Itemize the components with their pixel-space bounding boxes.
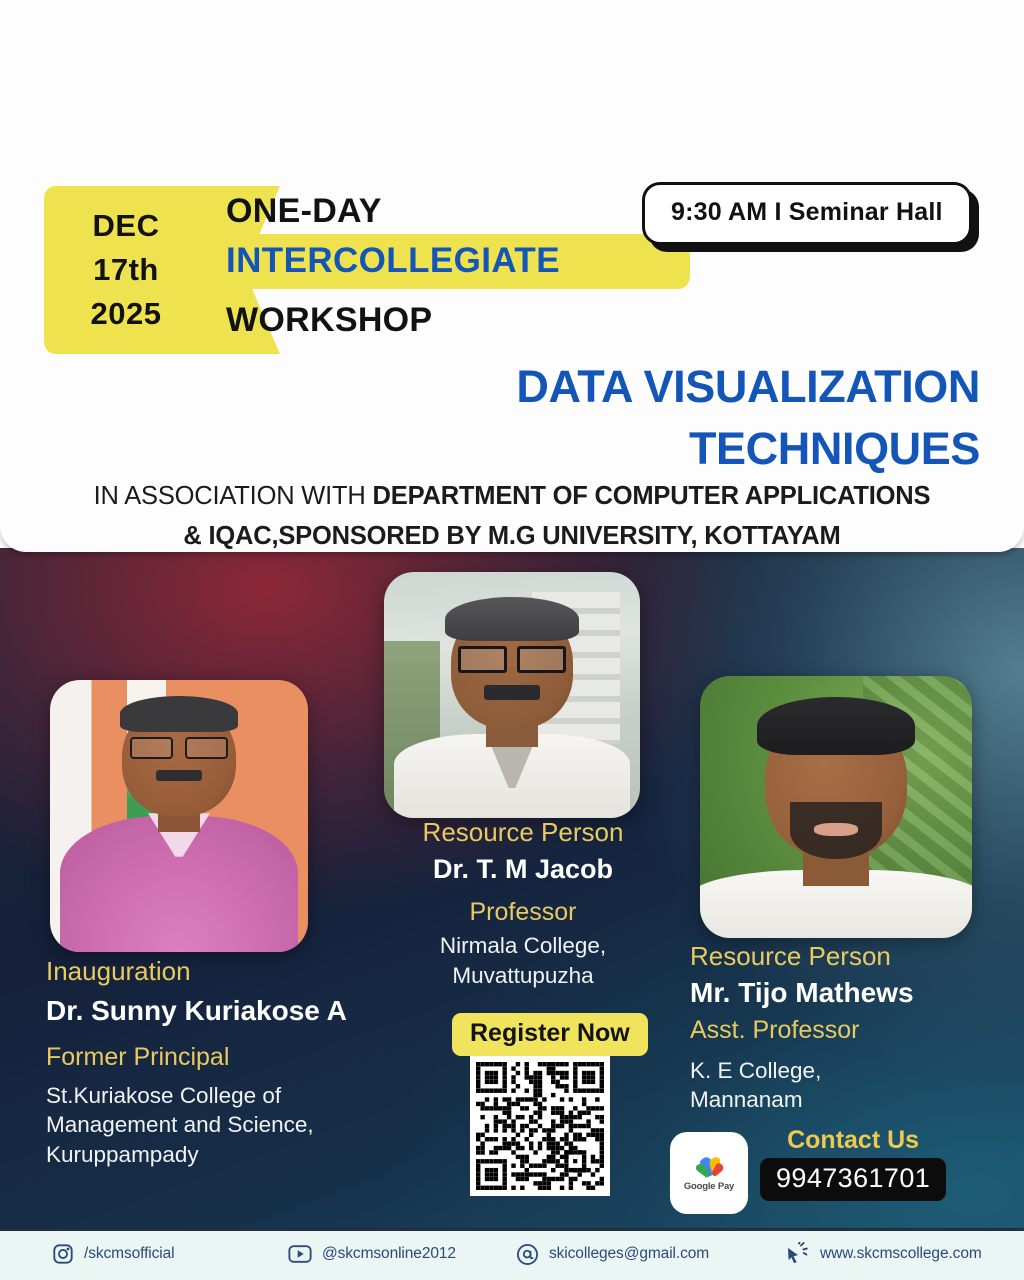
person-details-tm-jacob: Resource Person Dr. T. M Jacob Professor… [382,816,664,991]
qr-code-icon[interactable] [470,1056,610,1196]
person-name: Dr. Sunny Kuriakose A [46,992,406,1030]
person-org-line: Muvattupuzha [382,961,664,991]
person-designation: Asst. Professor [690,1014,1000,1047]
website-click-icon [784,1242,810,1266]
register-now-label: Register Now [470,1019,630,1047]
register-now-button[interactable]: Register Now [452,1013,648,1056]
google-pay-label: Google Pay [684,1181,734,1192]
headline-line-3: WORKSHOP [226,301,560,340]
footer-item-email[interactable]: skicolleges@gmail.com [516,1243,784,1266]
association-block: IN ASSOCIATION WITH DEPARTMENT OF COMPUT… [0,478,1024,554]
association-prefix: IN ASSOCIATION WITH [94,482,373,510]
headline-line-2: INTERCOLLEGIATE [226,241,560,280]
person-org-line: Kuruppampady [46,1140,406,1170]
date-year: 2025 [91,292,162,336]
person-name: Mr. Tijo Mathews [690,974,1000,1012]
contact-block: Contact Us 9947361701 [760,1126,946,1201]
footer-item-instagram[interactable]: /skcmsofficial [52,1243,288,1265]
contact-label: Contact Us [760,1126,946,1155]
time-venue-text: 9:30 AM I Seminar Hall [671,198,943,226]
footer-item-website[interactable]: www.skcmscollege.com [784,1242,982,1266]
footer-instagram-handle: /skcmsofficial [84,1245,174,1263]
google-pay-logo-icon: Google Pay [670,1132,748,1214]
portrait-photo-sunny-kuriakose [50,680,308,952]
footer-item-youtube[interactable]: @skcmsonline2012 [288,1243,516,1265]
person-designation: Former Principal [46,1041,406,1074]
person-org-line: K. E College, [690,1056,1000,1086]
person-org-line: Management and Science, [46,1110,406,1140]
event-headline: ONE-DAY INTERCOLLEGIATE WORKSHOP [226,190,560,340]
person-details-tijo-mathews: Resource Person Mr. Tijo Mathews Asst. P… [690,940,1000,1115]
footer-contact-bar: /skcmsofficial @skcmsonline2012 skicolle… [0,1228,1024,1280]
person-org-line: St.Kuriakose College of [46,1081,406,1111]
person-details-sunny-kuriakose: Inauguration Dr. Sunny Kuriakose A Forme… [46,955,406,1170]
person-org-line: Mannanam [690,1085,1000,1115]
footer-email-address: skicolleges@gmail.com [549,1245,709,1263]
email-at-icon [516,1243,539,1266]
headline-line-2-wrap: INTERCOLLEGIATE [226,241,560,281]
event-date-badge: DEC 17th 2025 [44,186,234,354]
instagram-icon [52,1243,74,1265]
contact-phone-pill[interactable]: 9947361701 [760,1158,946,1201]
time-venue-badge: 9:30 AM I Seminar Hall [642,182,972,245]
person-name: Dr. T. M Jacob [382,851,664,887]
portrait-photo-tijo-mathews [700,676,972,938]
person-org-line: Nirmala College, [382,931,664,961]
association-line-2: & IQAC,SPONSORED BY M.G UNIVERSITY, KOTT… [0,518,1024,554]
person-designation: Professor [382,896,664,929]
workshop-title-line-2: TECHNIQUES [516,418,980,480]
youtube-icon [288,1243,312,1265]
association-line-1: IN ASSOCIATION WITH DEPARTMENT OF COMPUT… [0,478,1024,514]
person-role: Inauguration [46,955,406,988]
association-department: DEPARTMENT OF COMPUTER APPLICATIONS [373,482,931,510]
contact-phone-number: 9947361701 [776,1163,930,1193]
date-month: DEC [93,204,160,248]
workshop-title-line-1: DATA VISUALIZATION [516,356,980,418]
person-role: Resource Person [382,816,664,849]
workshop-title: DATA VISUALIZATION TECHNIQUES [516,356,980,480]
date-day: 17th [93,248,159,292]
event-poster: SKCMS KURUPPAMPADY Estd: 2012 ST. [0,0,1024,1280]
portrait-photo-tm-jacob [384,572,640,818]
person-role: Resource Person [690,940,1000,973]
footer-youtube-handle: @skcmsonline2012 [322,1245,456,1263]
headline-line-1: ONE-DAY [226,190,560,233]
footer-website-url: www.skcmscollege.com [820,1245,982,1263]
